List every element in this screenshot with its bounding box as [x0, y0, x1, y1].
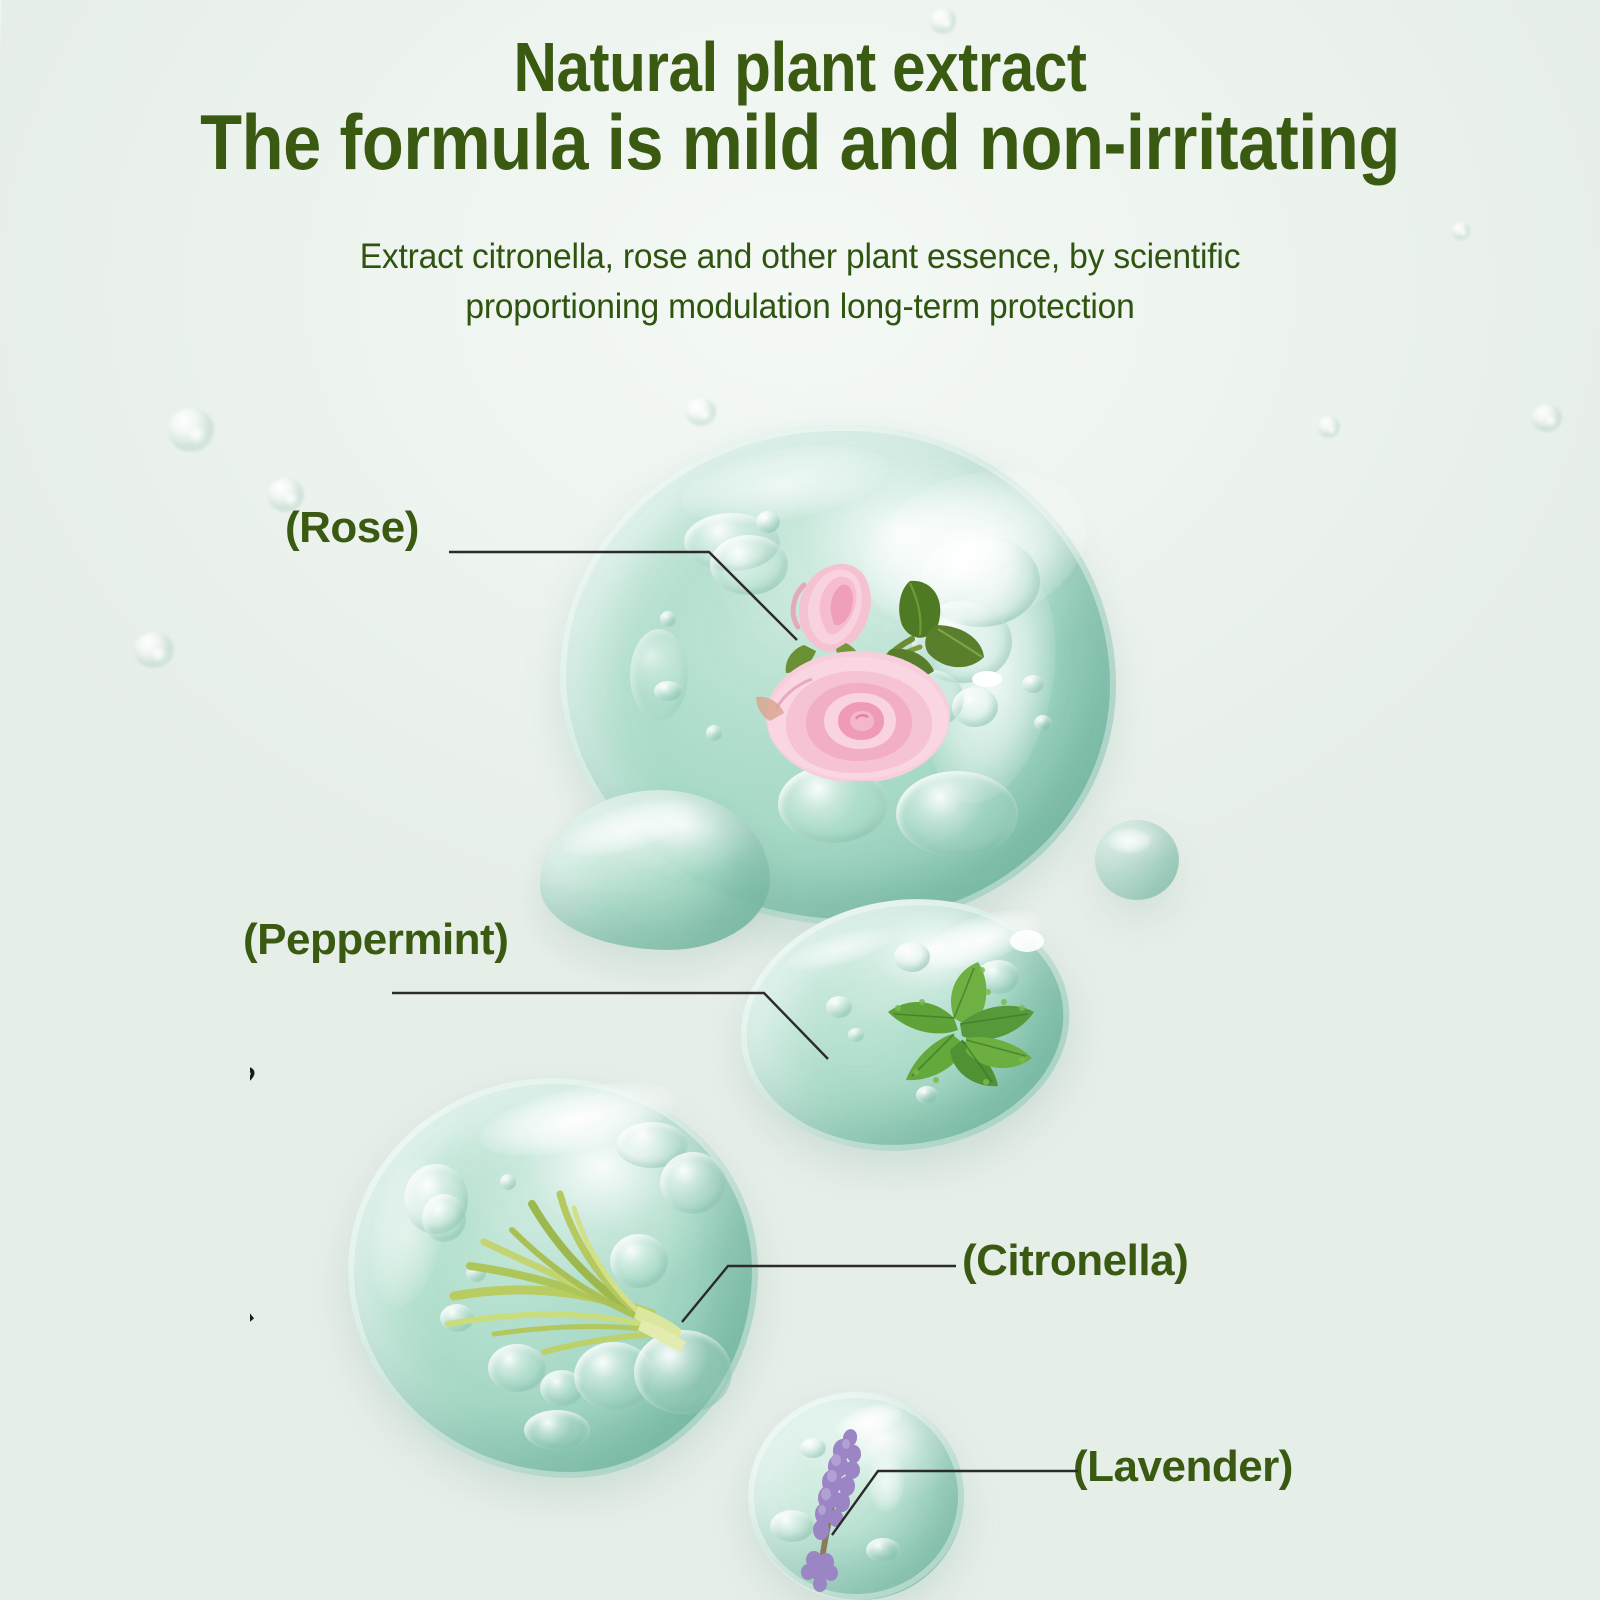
- gel-body: [540, 790, 770, 950]
- leader-line-rose: [447, 522, 867, 662]
- gel-bubble: [778, 765, 888, 843]
- gel-bubble: [896, 771, 1018, 857]
- page-subtitle: Extract citronella, rose and other plant…: [0, 232, 1600, 331]
- callout-label-lavender: (Lavender): [1073, 1442, 1293, 1492]
- leader-path: [832, 1471, 1078, 1535]
- subtitle-line-2: proportioning modulation long-term prote…: [32, 282, 1568, 332]
- gel-bubble: [976, 960, 1020, 994]
- background-droplet: [1532, 404, 1562, 432]
- gel-bubble: [894, 942, 930, 972]
- gel-bubble: [952, 687, 998, 727]
- gel-bubble: [706, 725, 722, 741]
- leader-line-citronella: [680, 1258, 960, 1398]
- lemon-grass-text: LEMON GRASS: [250, 1051, 266, 1337]
- gel-bubble: [1010, 930, 1044, 952]
- headline-line-2: The formula is mild and non-irritating: [96, 105, 1504, 179]
- gel-bubble: [848, 1028, 864, 1042]
- gel-sphere-small: [1095, 820, 1179, 900]
- callout-label-citronella: (Citronella): [962, 1236, 1188, 1286]
- gel-bubble: [610, 1234, 668, 1288]
- leader-path: [682, 1266, 956, 1322]
- background-droplet: [1318, 416, 1340, 438]
- gel-bubble: [972, 671, 1002, 687]
- leader-path: [449, 552, 797, 640]
- leader-line-lavender: [830, 1465, 1080, 1600]
- leader-line-peppermint: [390, 985, 830, 1105]
- gel-bubble: [654, 681, 682, 701]
- callout-label-peppermint: (Peppermint): [243, 915, 508, 965]
- gel-bubble: [916, 1086, 938, 1104]
- background-droplet: [168, 408, 214, 452]
- background-droplet: [134, 632, 174, 668]
- headline-line-1: Natural plant extract: [112, 34, 1488, 101]
- infographic-canvas: Natural plant extract The formula is mil…: [0, 0, 1600, 1600]
- gel-body: [1095, 820, 1179, 900]
- subtitle-line-1: Extract citronella, rose and other plant…: [32, 232, 1568, 282]
- gel-bubble: [800, 1438, 826, 1458]
- page-title: Natural plant extract The formula is mil…: [0, 34, 1600, 179]
- gel-bubble: [1034, 715, 1052, 731]
- gel-sphere-satellite: [540, 790, 770, 950]
- gel-bubble: [524, 1410, 590, 1450]
- gel-bubble: [1022, 675, 1044, 693]
- background-droplet: [686, 398, 716, 426]
- callout-label-rose: (Rose): [285, 503, 419, 553]
- leader-path: [392, 993, 828, 1059]
- gel-bubble: [770, 1510, 814, 1542]
- gel-bubble: [660, 1152, 726, 1214]
